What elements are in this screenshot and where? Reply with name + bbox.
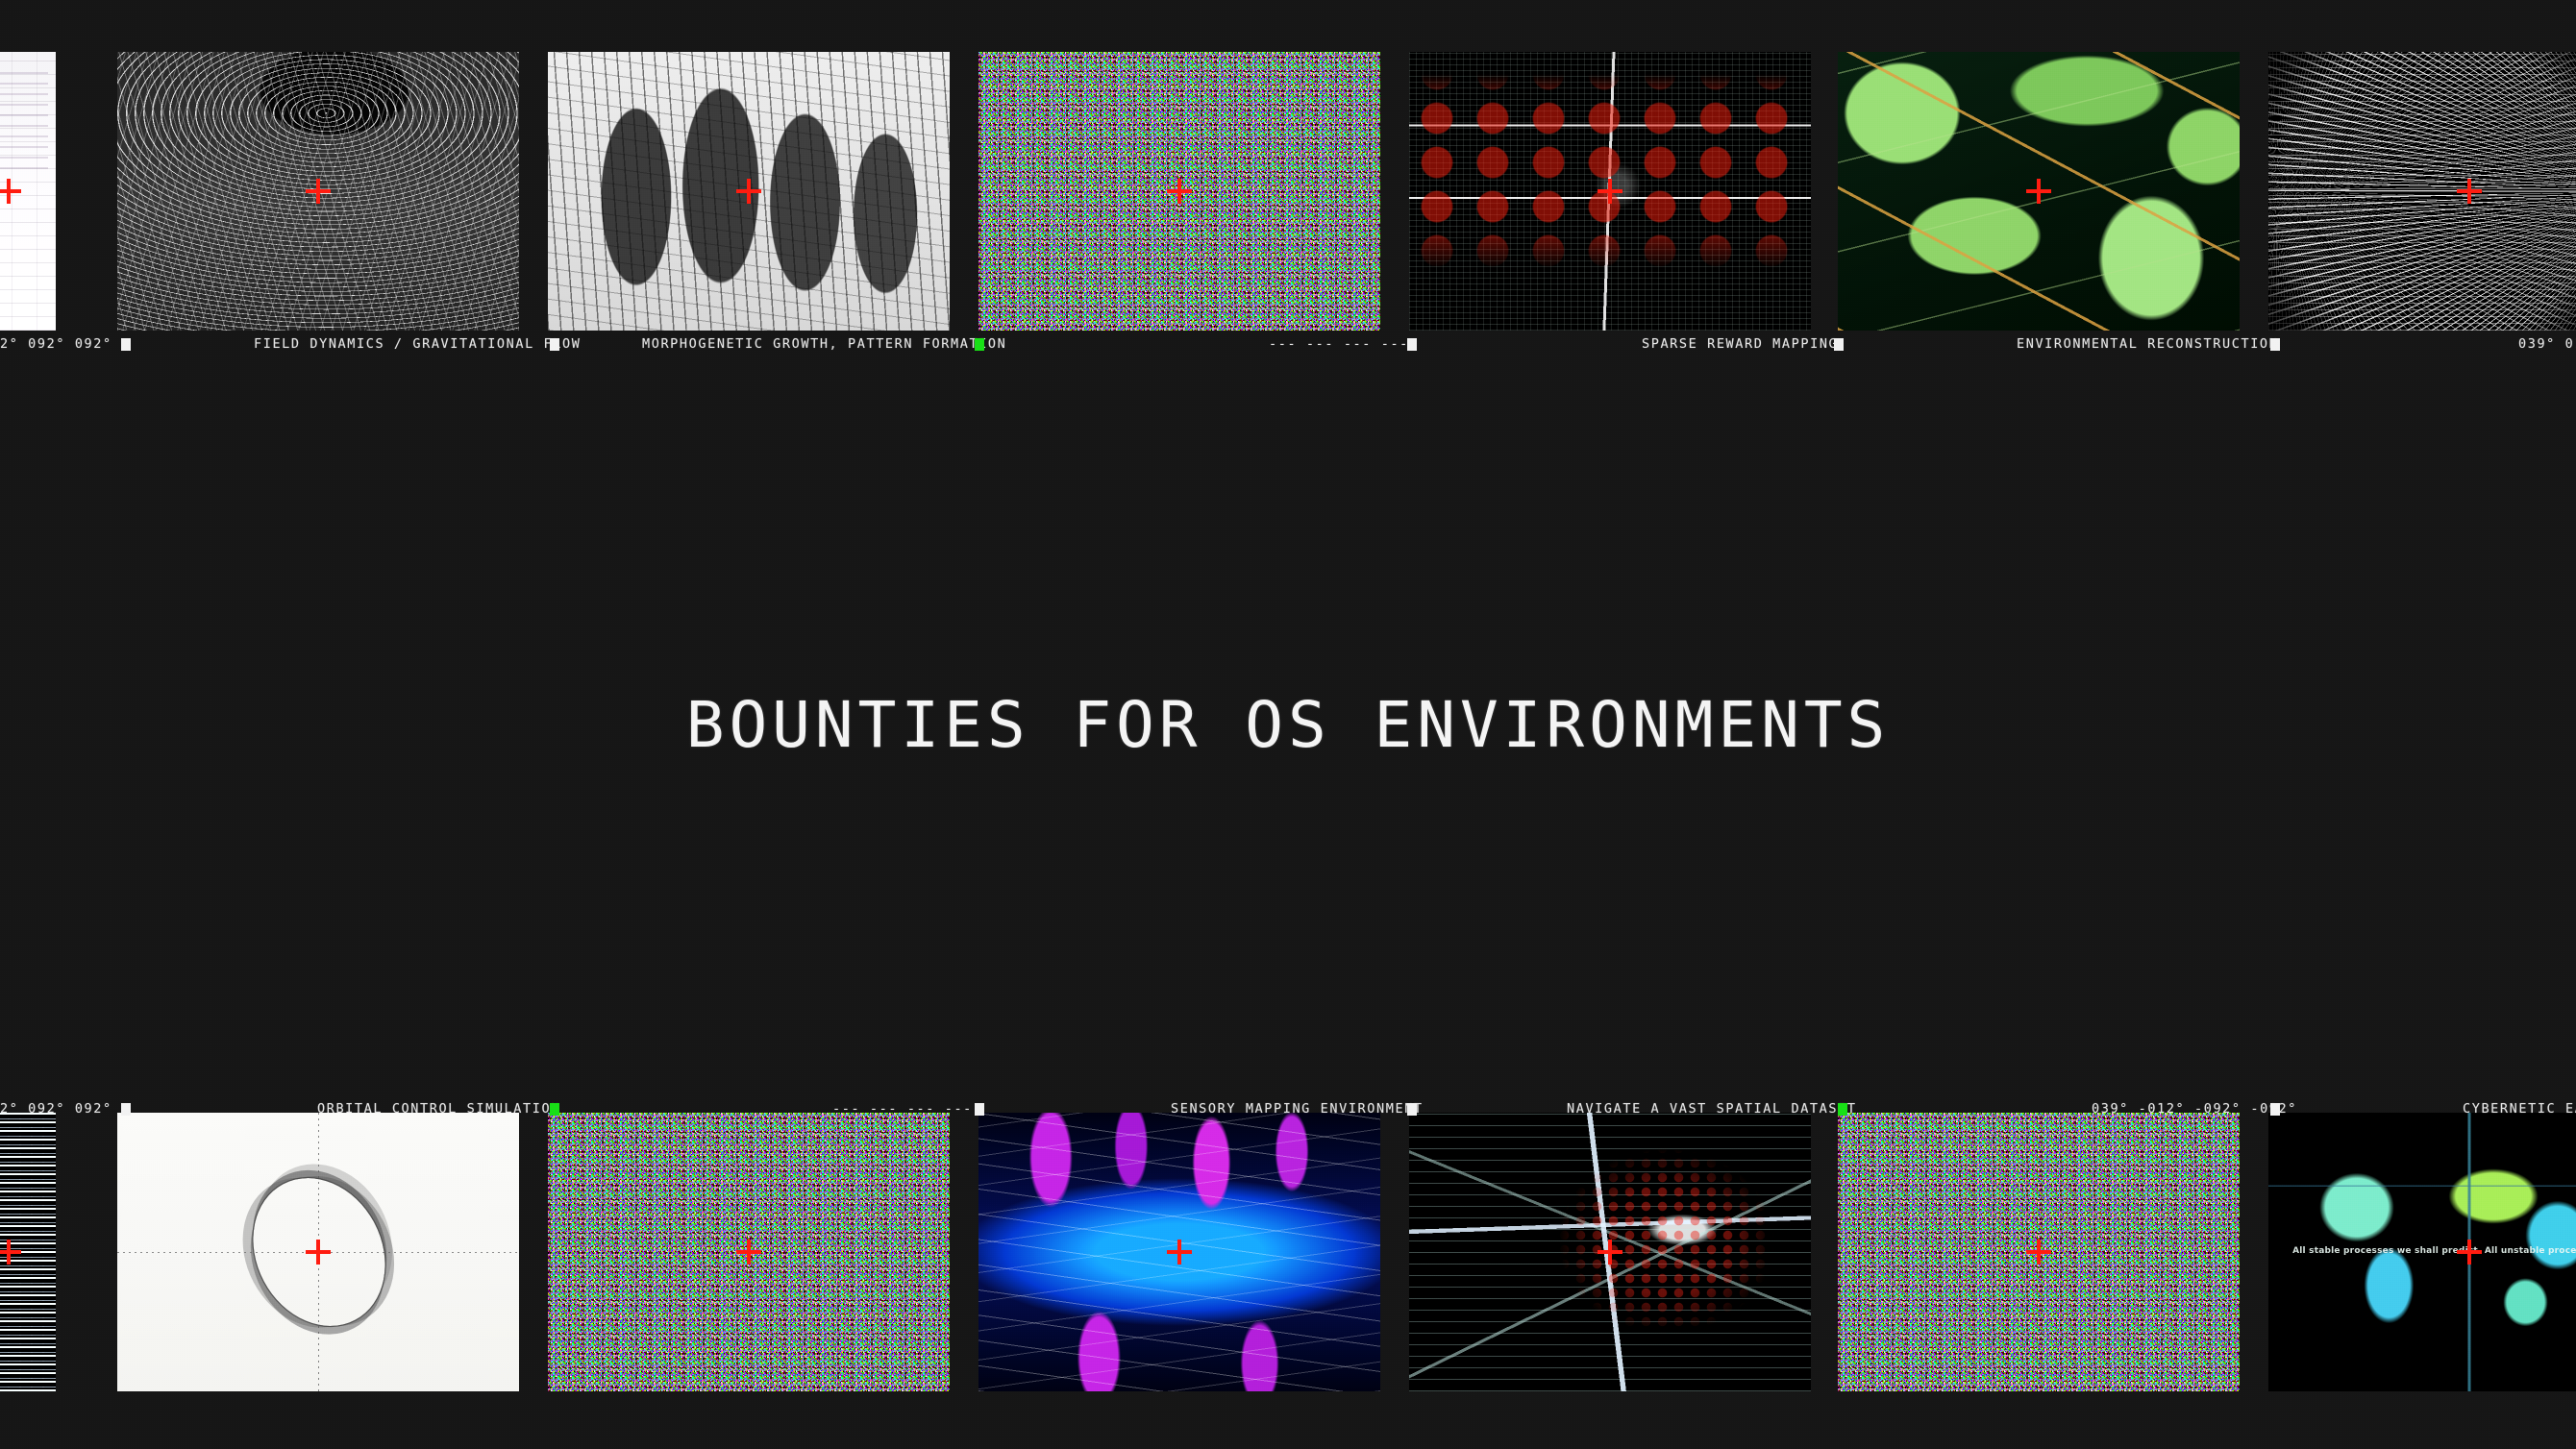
crosshair-marker-icon xyxy=(2457,179,2482,204)
status-badge-white[interactable] xyxy=(121,338,131,351)
thumbnail-caption: 2° 092° 092° xyxy=(0,332,112,356)
status-badge-green[interactable] xyxy=(975,338,984,351)
crosshair-marker-icon xyxy=(0,179,21,204)
crosshair-marker-icon xyxy=(306,179,331,204)
thumbnail-signal-waterfall[interactable] xyxy=(0,1113,56,1391)
thumbnail-caption: NAVIGATE A VAST SPATIAL DATASET xyxy=(1567,1097,1857,1120)
status-badge-white[interactable] xyxy=(975,1103,984,1116)
thumbnail-caption: ORBITAL CONTROL SIMULATION xyxy=(317,1097,560,1120)
thumbnail-spectral-tunnel[interactable] xyxy=(978,1113,1380,1391)
status-badge-white[interactable] xyxy=(1834,338,1844,351)
thumbnail-wave-interference-fan[interactable] xyxy=(2268,52,2576,331)
thumbnail-caption: MORPHOGENETIC GROWTH, PATTERN FORMATION xyxy=(642,332,1006,356)
status-badge-white[interactable] xyxy=(2270,1103,2280,1116)
world-map-caption: All stable processes we shall predict. A… xyxy=(2292,1246,2576,1256)
thumbnail-document-scan[interactable] xyxy=(0,52,56,331)
thumbnail-rgb-static-noise[interactable] xyxy=(548,1113,950,1391)
crosshair-marker-icon xyxy=(736,179,761,204)
top-label-row: 2° 092° 092°FIELD DYNAMICS / GRAVITATION… xyxy=(0,332,2576,356)
bottom-label-row: 2° 092° 092°ORBITAL CONTROL SIMULATION--… xyxy=(0,1097,2576,1120)
thumbnail-gravitational-flow[interactable] xyxy=(117,52,519,331)
thumbnail-rgb-static-noise[interactable] xyxy=(978,52,1380,331)
crosshair-marker-icon xyxy=(1598,1240,1622,1265)
crosshair-marker-icon xyxy=(1167,1240,1192,1265)
crosshair-marker-icon xyxy=(306,1240,331,1265)
crosshair-marker-icon xyxy=(2026,179,2051,204)
thumbnail-caption: CYBERNETIC EARTH xyxy=(2463,1097,2576,1120)
thumbnail-caption: --- --- --- --- xyxy=(1269,332,1409,356)
crosshair-marker-icon xyxy=(1598,179,1622,204)
thumbnail-caption: FIELD DYNAMICS / GRAVITATIONAL FLOW xyxy=(254,332,581,356)
thumbnail-caption: ENVIRONMENTAL RECONSTRUCTION xyxy=(2017,332,2278,356)
crosshair-marker-icon xyxy=(0,1240,21,1265)
thumbnail-caption: --- --- --- --- xyxy=(832,1097,973,1120)
status-badge-green[interactable] xyxy=(550,1103,559,1116)
top-thumbnail-strip xyxy=(0,52,2576,340)
page-canvas: 2° 092° 092°FIELD DYNAMICS / GRAVITATION… xyxy=(0,0,2576,1449)
crosshair-marker-icon xyxy=(1167,179,1192,204)
status-badge-white[interactable] xyxy=(2270,338,2280,351)
status-badge-white[interactable] xyxy=(121,1103,131,1116)
thumbnail-spatial-dataset-lidar[interactable] xyxy=(1409,1113,1811,1391)
status-badge-green[interactable] xyxy=(1838,1103,1847,1116)
thumbnail-rgb-static-noise[interactable] xyxy=(1838,1113,2240,1391)
status-badge-white[interactable] xyxy=(1407,1103,1417,1116)
thumbnail-orbital-control-plot[interactable] xyxy=(117,1113,519,1391)
crosshair-marker-icon xyxy=(736,1240,761,1265)
thumbnail-morphogenetic-growth[interactable] xyxy=(548,52,950,331)
thumbnail-environmental-terrain[interactable] xyxy=(1838,52,2240,331)
thumbnail-art-wave-interference-fan xyxy=(2268,52,2576,331)
status-badge-white[interactable] xyxy=(550,338,559,351)
thumbnail-cybernetic-earth-map[interactable]: All stable processes we shall predict. A… xyxy=(2268,1113,2576,1391)
thumbnail-caption: 039° -012° -092° -092° xyxy=(2092,1097,2297,1120)
thumbnail-caption: SPARSE REWARD MAPPING xyxy=(1642,332,1838,356)
page-title: BOUNTIES FOR OS ENVIRONMENTS xyxy=(686,688,1891,762)
thumbnail-sparse-reward-grid[interactable] xyxy=(1409,52,1811,331)
crosshair-marker-icon xyxy=(2026,1240,2051,1265)
bottom-thumbnail-strip: All stable processes we shall predict. A… xyxy=(0,1113,2576,1401)
status-badge-white[interactable] xyxy=(1407,338,1417,351)
thumbnail-caption: 2° 092° 092° xyxy=(0,1097,112,1120)
crosshair-marker-icon xyxy=(2457,1240,2482,1265)
thumbnail-caption: 039° 012° 092° 092° xyxy=(2518,332,2576,356)
thumbnail-caption: SENSORY MAPPING ENVIRONMENT xyxy=(1171,1097,1424,1120)
